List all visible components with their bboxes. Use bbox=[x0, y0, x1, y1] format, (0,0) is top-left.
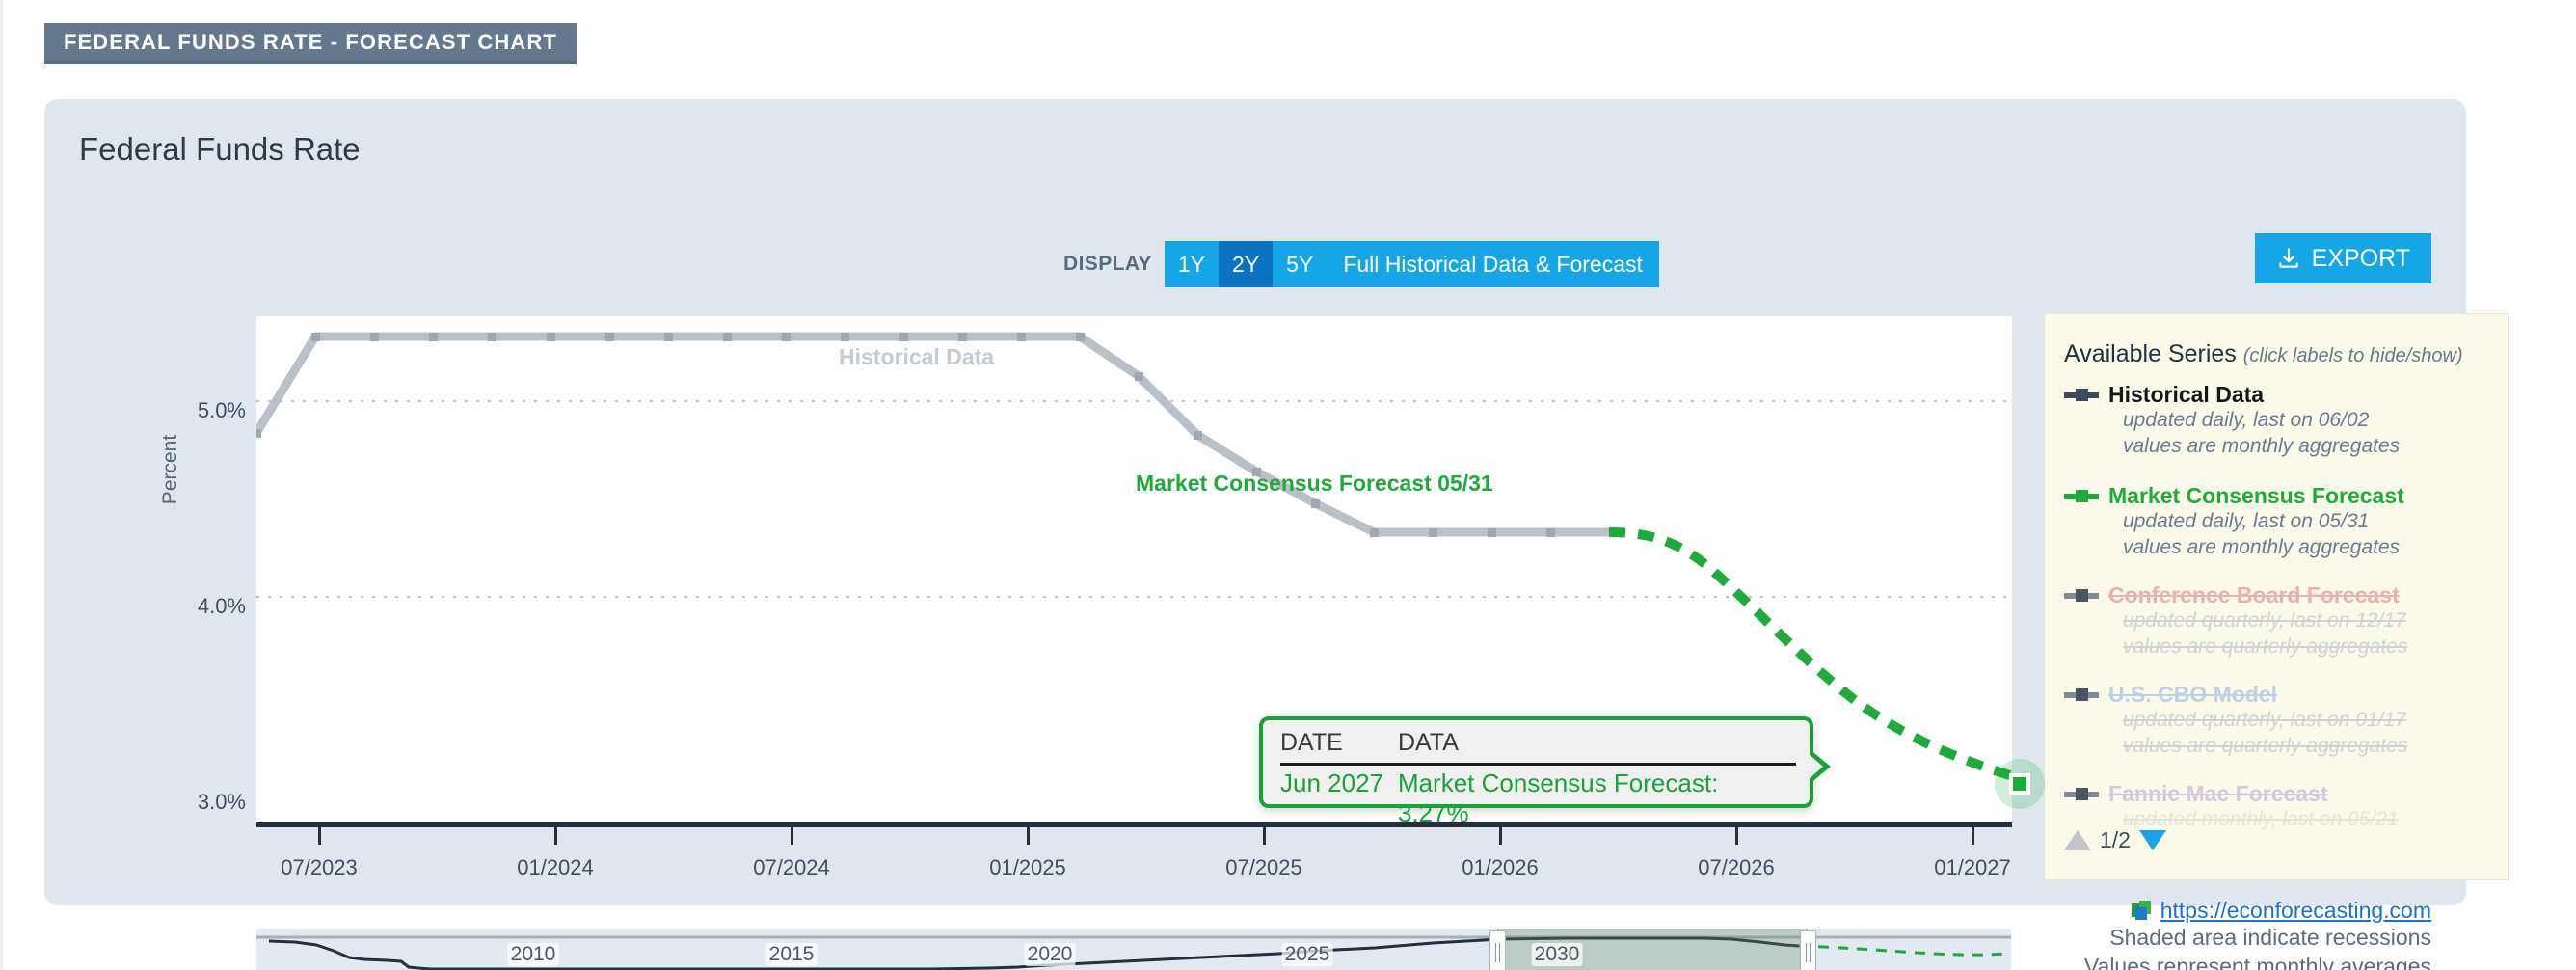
series-line-icon bbox=[2064, 692, 2099, 698]
navigator-year-2015: 2015 bbox=[766, 943, 818, 966]
x-tick-7: 01/2027 bbox=[1934, 855, 2011, 880]
export-label: EXPORT bbox=[2312, 245, 2410, 273]
tooltip-date: Jun 2027 bbox=[1280, 768, 1398, 828]
site-favicon-icon bbox=[2132, 901, 2152, 921]
x-tick-5: 01/2026 bbox=[1462, 855, 1539, 880]
legend-pager: 1/2 bbox=[2064, 827, 2166, 853]
page-badge: FEDERAL FUNDS RATE - FORECAST CHART bbox=[44, 23, 577, 64]
tooltip-header-data: DATA bbox=[1398, 729, 1459, 763]
source-link-row: https://econforecasting.com bbox=[1930, 898, 2431, 924]
legend-hint: (click labels to hide/show) bbox=[2243, 345, 2463, 366]
legend-item-aggregation: values are quarterly aggregates bbox=[2123, 634, 2407, 660]
chart-card: Federal Funds Rate DISPLAY 1Y 2Y 5Y Full… bbox=[44, 99, 2466, 905]
tooltip-value: Market Consensus Forecast: 3.27% bbox=[1398, 768, 1796, 828]
pager-label: 1/2 bbox=[2100, 827, 2131, 853]
navigator-year-2010: 2010 bbox=[508, 943, 559, 966]
page-left-edge bbox=[0, 0, 3, 970]
y-tick-4: 4.0% bbox=[198, 594, 246, 619]
tooltip-header: DATE DATA bbox=[1280, 729, 1796, 766]
legend-item-updated: updated quarterly, last on 01/17 bbox=[2123, 708, 2407, 734]
legend-item-name: Fannie Mae Forecast bbox=[2108, 781, 2399, 807]
pager-next-icon[interactable] bbox=[2139, 830, 2166, 850]
legend-item-market-consensus-forecast[interactable]: Market Consensus Forecast updated daily,… bbox=[2064, 483, 2404, 561]
source-link[interactable]: https://econforecasting.com bbox=[2160, 898, 2431, 924]
tooltip-arrow-inner bbox=[1808, 753, 1823, 780]
series-line-icon bbox=[2064, 792, 2099, 797]
chart-footer: https://econforecasting.com Shaded area … bbox=[1930, 898, 2431, 970]
series-line-icon bbox=[2064, 494, 2099, 499]
x-tick-3: 01/2025 bbox=[989, 855, 1066, 880]
legend-item-updated: updated daily, last on 06/02 bbox=[2123, 408, 2400, 434]
footer-note-averages: Values represent monthly averages bbox=[1930, 953, 2431, 970]
tooltip-header-date: DATE bbox=[1280, 729, 1398, 763]
legend-item-aggregation: values are quarterly aggregates bbox=[2123, 734, 2407, 760]
legend-item-name: U.S. CBO Model bbox=[2108, 682, 2407, 708]
legend-item-updated: updated quarterly, last on 12/17 bbox=[2123, 608, 2407, 634]
legend-item-updated: updated daily, last on 05/31 bbox=[2123, 509, 2404, 535]
navigator-handle-right[interactable] bbox=[1800, 930, 1816, 970]
footer-note-recessions: Shaded area indicate recessions bbox=[1930, 924, 2431, 953]
legend-item-name: Conference Board Forecast bbox=[2108, 582, 2407, 608]
navigator-year-2030: 2030 bbox=[1532, 943, 1583, 966]
y-tick-3: 3.0% bbox=[198, 790, 246, 815]
navigator-handle-left[interactable] bbox=[1489, 930, 1506, 970]
x-tick-4: 07/2025 bbox=[1225, 855, 1302, 880]
forecast-series-label: Market Consensus Forecast 05/31 bbox=[1136, 471, 1493, 497]
y-axis-title: Percent bbox=[159, 435, 182, 504]
page-title: Federal Funds Rate bbox=[79, 131, 361, 168]
legend-item-name: Market Consensus Forecast bbox=[2108, 483, 2404, 509]
forecast-chart-page: FEDERAL FUNDS RATE - FORECAST CHART Fede… bbox=[0, 0, 2576, 970]
tooltip-row: Jun 2027 Market Consensus Forecast: 3.27… bbox=[1280, 768, 1796, 828]
x-tick-6: 07/2026 bbox=[1698, 855, 1775, 880]
legend-title: Available Series (click labels to hide/s… bbox=[2064, 340, 2463, 368]
navigator-year-2025: 2025 bbox=[1282, 943, 1333, 966]
series-line-icon bbox=[2064, 593, 2099, 599]
pager-prev-icon[interactable] bbox=[2064, 830, 2091, 850]
legend-item-aggregation: values are monthly aggregates bbox=[2123, 535, 2404, 561]
legend-item-us-cbo-model[interactable]: U.S. CBO Model updated quarterly, last o… bbox=[2064, 682, 2407, 760]
chart-tooltip: DATE DATA Jun 2027 Market Consensus Fore… bbox=[1259, 716, 1813, 808]
range-navigator[interactable]: 2010 2015 2020 2025 2030 bbox=[256, 929, 2011, 970]
x-tick-0: 07/2023 bbox=[281, 855, 358, 880]
legend-item-name: Historical Data bbox=[2108, 382, 2400, 408]
legend-item-conference-board-forecast[interactable]: Conference Board Forecast updated quarte… bbox=[2064, 582, 2407, 660]
x-tick-2: 07/2024 bbox=[753, 855, 830, 880]
x-tick-1: 01/2024 bbox=[517, 855, 594, 880]
legend-item-aggregation: values are monthly aggregates bbox=[2123, 434, 2400, 460]
available-series-panel: Available Series (click labels to hide/s… bbox=[2044, 313, 2509, 880]
download-icon bbox=[2276, 246, 2301, 271]
y-tick-5: 5.0% bbox=[198, 398, 246, 423]
legend-title-text: Available Series bbox=[2064, 340, 2237, 367]
legend-item-historical-data[interactable]: Historical Data updated daily, last on 0… bbox=[2064, 382, 2400, 460]
navigator-year-2020: 2020 bbox=[1025, 943, 1076, 966]
series-line-icon bbox=[2064, 392, 2099, 398]
export-button[interactable]: EXPORT bbox=[2255, 233, 2431, 283]
historical-series-label: Historical Data bbox=[839, 344, 994, 370]
highlighted-data-point[interactable] bbox=[1995, 759, 2045, 809]
legend-item-fannie-mae-forecast[interactable]: Fannie Mae Forecast updated monthly, las… bbox=[2064, 781, 2399, 833]
